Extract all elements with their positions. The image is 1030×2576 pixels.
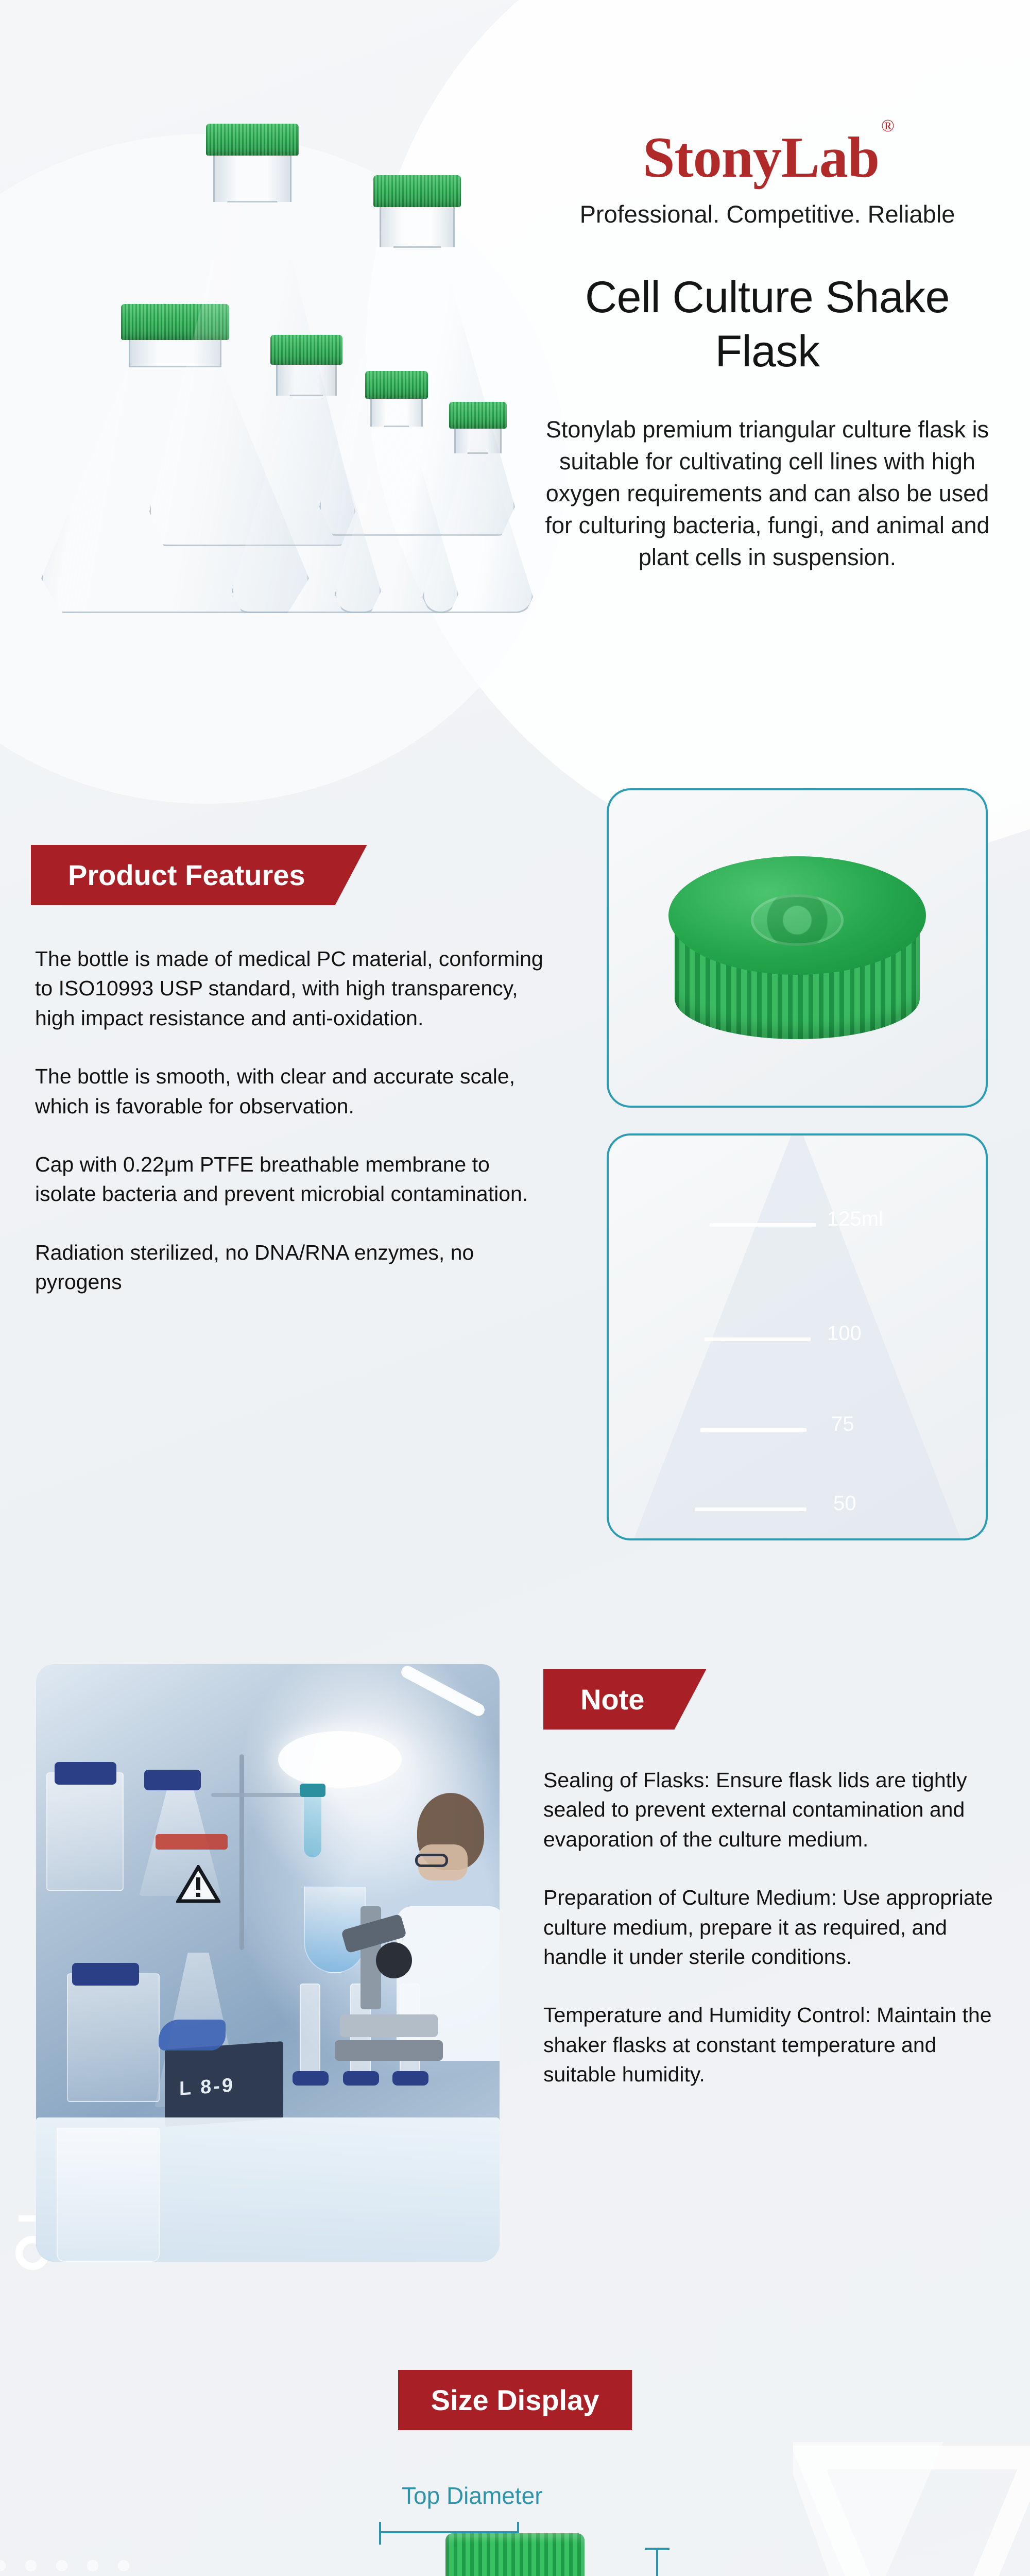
graduation-label: 75 <box>831 1413 854 1436</box>
hazard-warning-icon <box>176 1865 220 1903</box>
hero-section: StonyLab® Professional. Competitive. Rel… <box>0 0 1030 721</box>
flask-cap-icon <box>270 335 342 365</box>
height-tick-top <box>645 2548 669 2550</box>
flask-cap-icon <box>373 175 461 207</box>
lab-stand-pole <box>239 1754 244 1950</box>
hero-description: Stonylab premium triangular culture flas… <box>536 414 999 573</box>
cap-vent-membrane-icon <box>751 894 844 946</box>
graduation-tick <box>710 1223 816 1227</box>
lab-stand-arm <box>211 1793 304 1797</box>
microscope-base <box>335 2040 443 2061</box>
cap-closeup-card <box>607 788 988 1108</box>
lab-magnifier-lamp <box>278 1731 402 1788</box>
graduation-tick <box>705 1337 811 1341</box>
lab-gloves <box>159 2020 226 2050</box>
top-diameter-tick-left <box>379 2522 381 2545</box>
flask-cap-icon <box>206 124 299 156</box>
feature-item: The bottle is made of medical PC materia… <box>35 944 551 1033</box>
hero-product-photo <box>31 108 525 629</box>
flask-body <box>422 452 533 613</box>
flask-neck <box>276 365 337 396</box>
note-heading: Note <box>543 1669 706 1730</box>
note-item: Preparation of Culture Medium: Use appro… <box>543 1883 997 1972</box>
flask-cap-icon <box>365 371 428 399</box>
lab-red-liquid <box>156 1834 228 1850</box>
graduation-tick <box>695 1507 806 1511</box>
lab-crate-label: L 8-9 <box>179 2074 235 2100</box>
registered-trademark-icon: ® <box>881 116 894 135</box>
lab-bottle-shape <box>57 2128 160 2262</box>
size-diagram-flask <box>397 2533 633 2576</box>
flask-cone-shape <box>632 1133 962 1540</box>
lab-test-tube <box>304 1790 321 1857</box>
note-section: L 8-9 Note Sealing of Flasks: Ensure fla… <box>0 1649 1030 2318</box>
brand-logo: StonyLab® <box>643 129 892 187</box>
flask-neck <box>213 156 291 202</box>
flask-cap-icon <box>445 2533 585 2576</box>
laboratory-photo: L 8-9 <box>36 1664 500 2262</box>
page-title: Cell Culture Shake Flask <box>536 270 999 379</box>
flask-cap-icon <box>449 402 507 429</box>
product-features-heading: Product Features <box>31 845 367 905</box>
scientist-glasses-icon <box>415 1854 448 1867</box>
green-cap-photo <box>668 856 926 1052</box>
microscope-stage <box>340 2014 438 2037</box>
flask-neck <box>454 429 502 453</box>
graduation-label: 50 <box>833 1492 856 1515</box>
graduated-flask-photo <box>632 1133 962 1540</box>
lab-tube-cap <box>300 1784 325 1797</box>
brand-name: StonyLab <box>643 126 879 190</box>
microscope-focus-knob <box>376 1942 412 1978</box>
lab-blue-cap <box>144 1770 201 1790</box>
flask-neck <box>380 207 455 247</box>
note-item: Temperature and Humidity Control: Mainta… <box>543 2001 997 2089</box>
size-diagram: Top Diameter Height Bottom Diameter <box>0 2466 1030 2576</box>
height-span-upper <box>656 2549 658 2576</box>
feature-item: Cap with 0.22μm PTFE breathable membrane… <box>35 1150 551 1209</box>
feature-item: The bottle is smooth, with clear and acc… <box>35 1062 551 1121</box>
lab-small-tube <box>300 1984 320 2081</box>
size-display-section: Size Display Top Diameter Height Bottom … <box>0 2370 1030 2576</box>
lab-flask-shape <box>46 1772 124 1891</box>
lab-tube-base <box>293 2071 329 2086</box>
graduation-closeup-card: 125ml 100 75 50 <box>607 1133 988 1540</box>
graduation-label: 125ml <box>827 1208 883 1231</box>
lab-tube-base <box>343 2071 379 2086</box>
lab-blue-cap <box>55 1762 116 1785</box>
graduation-tick <box>700 1428 806 1432</box>
feature-item: Radiation sterilized, no DNA/RNA enzymes… <box>35 1238 551 1297</box>
lab-bottle-shape <box>67 1973 160 2102</box>
product-features-list: The bottle is made of medical PC materia… <box>31 944 551 1297</box>
flask-neck <box>370 399 423 427</box>
lab-blue-cap <box>72 1963 139 1986</box>
flask-250ml <box>422 402 533 613</box>
note-list: Sealing of Flasks: Ensure flask lids are… <box>543 1766 997 2090</box>
brand-tagline: Professional. Competitive. Reliable <box>536 200 999 228</box>
size-display-heading: Size Display <box>398 2370 632 2430</box>
scientist-lab-coat <box>397 1906 500 2061</box>
note-item: Sealing of Flasks: Ensure flask lids are… <box>543 1766 997 1854</box>
lab-tube-base <box>392 2071 428 2086</box>
graduation-label: 100 <box>827 1322 862 1345</box>
top-diameter-label: Top Diameter <box>402 2482 543 2510</box>
